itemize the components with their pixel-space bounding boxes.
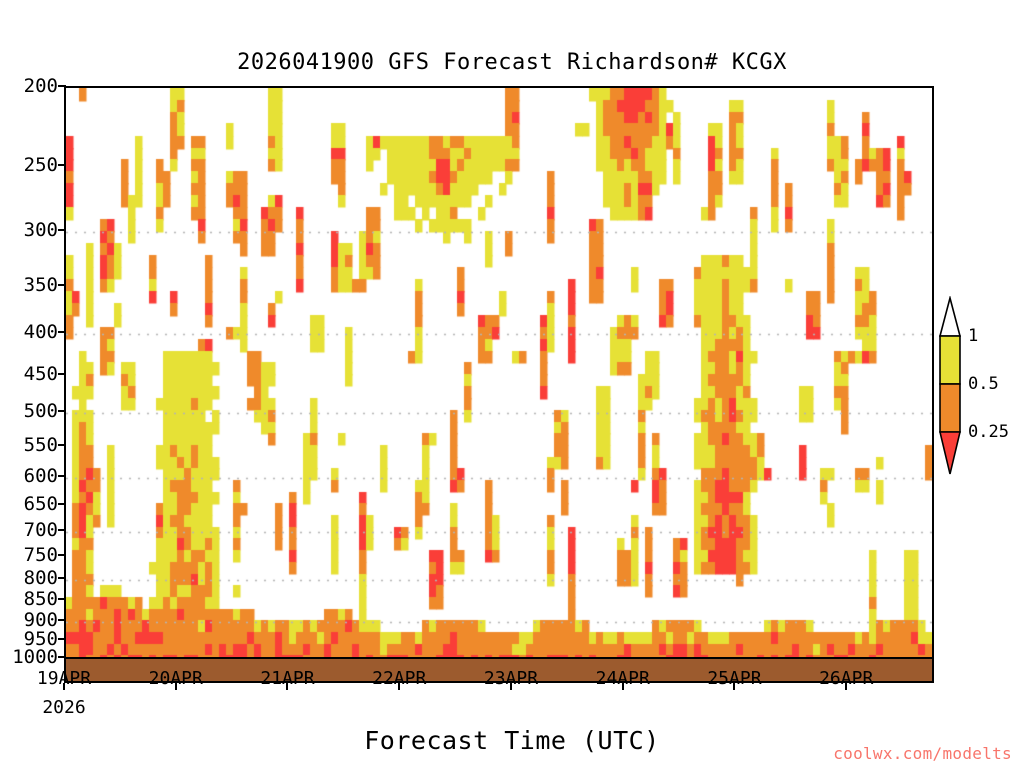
y-axis-tick-label: 700	[24, 519, 58, 541]
colorbar-band-red	[940, 432, 960, 474]
y-axis-tick-mark	[58, 331, 66, 333]
y-axis-tick-label: 850	[24, 588, 58, 610]
colorbar-tick-label: 1	[968, 326, 978, 346]
plot-area	[64, 86, 934, 661]
y-axis-tick-label: 600	[24, 465, 58, 487]
y-axis-tick-mark	[58, 656, 66, 658]
x-axis-tick-mark	[733, 683, 735, 690]
watermark: coolwx.com/modelts	[833, 744, 1012, 763]
colorbar-band-yellow	[940, 336, 960, 384]
heatmap-canvas	[66, 88, 932, 659]
colorbar-legend: 10.50.25	[938, 296, 1024, 476]
y-axis-tick-label: 750	[24, 544, 58, 566]
y-axis-tick-mark	[58, 619, 66, 621]
x-axis-tick-mark	[510, 683, 512, 690]
y-axis-tick-mark	[58, 164, 66, 166]
y-axis-tick-mark	[58, 85, 66, 87]
y-axis-tick-label: 300	[24, 219, 58, 241]
y-axis-tick-label: 200	[24, 75, 58, 97]
y-axis: 2002503003504004505005506006507007508008…	[0, 0, 58, 768]
y-axis-tick-mark	[58, 554, 66, 556]
x-axis-tick-mark	[622, 683, 624, 690]
y-axis-tick-label: 450	[24, 363, 58, 385]
y-axis-tick-mark	[58, 577, 66, 579]
colorbar-swatches	[938, 296, 972, 476]
chart-root: 2026041900 GFS Forecast Richardson# KCGX…	[0, 0, 1024, 768]
y-axis-tick-mark	[58, 598, 66, 600]
y-axis-tick-mark	[58, 503, 66, 505]
y-axis-tick-mark	[58, 475, 66, 477]
y-axis-tick-mark	[58, 638, 66, 640]
y-axis-tick-label: 1000	[12, 646, 58, 668]
y-axis-tick-label: 400	[24, 321, 58, 343]
y-axis-tick-mark	[58, 444, 66, 446]
colorbar-band-above-1	[940, 298, 960, 336]
x-axis-tick-mark	[286, 683, 288, 690]
y-axis-tick-mark	[58, 529, 66, 531]
y-axis-tick-label: 650	[24, 493, 58, 515]
y-axis-tick-mark	[58, 284, 66, 286]
x-axis-tick-mark	[175, 683, 177, 690]
page-title: 2026041900 GFS Forecast Richardson# KCGX	[0, 50, 1024, 75]
colorbar-band-orange	[940, 384, 960, 432]
y-axis-tick-mark	[58, 229, 66, 231]
x-axis-tick-mark	[63, 683, 65, 690]
y-axis-tick-mark	[58, 410, 66, 412]
colorbar-tick-label: 0.5	[968, 374, 999, 394]
y-axis-tick-label: 250	[24, 154, 58, 176]
y-axis-tick-label: 550	[24, 434, 58, 456]
y-axis-tick-label: 500	[24, 400, 58, 422]
y-axis-tick-label: 350	[24, 274, 58, 296]
y-axis-tick-label: 800	[24, 567, 58, 589]
x-axis-tick-mark	[398, 683, 400, 690]
x-axis-year-label: 2026	[42, 697, 85, 718]
x-axis-tick-mark	[845, 683, 847, 690]
y-axis-tick-mark	[58, 373, 66, 375]
colorbar-tick-label: 0.25	[968, 422, 1009, 442]
